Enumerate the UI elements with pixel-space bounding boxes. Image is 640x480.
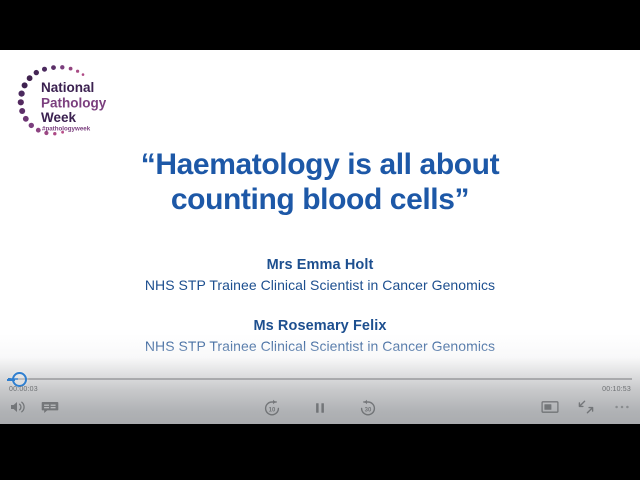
headline-line-1: “Haematology is all about (70, 148, 570, 183)
slide-headline: “Haematology is all about counting blood… (70, 148, 570, 217)
headline-line-2: counting blood cells” (70, 183, 570, 218)
previous-video-button[interactable] (6, 232, 28, 254)
volume-icon (9, 400, 27, 414)
pause-button[interactable] (312, 399, 328, 417)
captions-icon (41, 400, 59, 414)
fullscreen-button[interactable] (577, 398, 595, 416)
controls-center-group: 10 30 (262, 398, 378, 418)
more-options-icon (613, 403, 631, 411)
national-pathology-week-logo: National Pathology Week #pathologyweek (14, 64, 106, 142)
seek-bar[interactable] (0, 372, 640, 386)
chevron-right-icon (612, 232, 634, 254)
controls-left-group (9, 398, 59, 416)
fullscreen-icon (577, 399, 595, 415)
controls-right-group (541, 398, 631, 416)
logo-wordmark: National Pathology Week #pathologyweek (41, 80, 106, 133)
seek-bar-track[interactable] (8, 378, 632, 380)
rewind-10-icon: 10 (262, 398, 282, 418)
video-player[interactable]: National Pathology Week #pathologyweek “… (0, 0, 640, 480)
picture-in-picture-icon (541, 400, 559, 414)
letterbox-bar-top (0, 0, 640, 50)
pause-icon (312, 400, 328, 416)
speaker-name: Mrs Emma Holt (40, 255, 600, 275)
time-elapsed: 00:00:03 (9, 386, 38, 393)
captions-button[interactable] (41, 398, 59, 416)
forward-seconds-label: 30 (365, 407, 372, 413)
picture-in-picture-button[interactable] (541, 398, 559, 416)
svg-text:Week: Week (41, 110, 77, 125)
rewind-seconds-label: 10 (269, 407, 276, 413)
forward-30-icon: 30 (358, 398, 378, 418)
rewind-10-button[interactable]: 10 (262, 398, 282, 418)
svg-text:#pathologyweek: #pathologyweek (42, 126, 91, 133)
seek-bar-handle[interactable] (12, 372, 27, 387)
svg-text:Pathology: Pathology (41, 96, 106, 111)
speaker-name: Ms Rosemary Felix (40, 316, 600, 336)
player-controls-bar[interactable]: 00:00:03 00:10:53 (0, 334, 640, 424)
speaker-entry: Mrs Emma Holt NHS STP Trainee Clinical S… (40, 255, 600, 296)
more-options-button[interactable] (613, 398, 631, 416)
letterbox-bar-bottom (0, 424, 640, 480)
next-video-button[interactable] (612, 232, 634, 254)
chevron-left-icon (6, 232, 28, 254)
speaker-role: NHS STP Trainee Clinical Scientist in Ca… (40, 275, 600, 295)
svg-text:National: National (41, 80, 94, 95)
volume-button[interactable] (9, 398, 27, 416)
forward-30-button[interactable]: 30 (358, 398, 378, 418)
time-total: 00:10:53 (602, 386, 631, 393)
